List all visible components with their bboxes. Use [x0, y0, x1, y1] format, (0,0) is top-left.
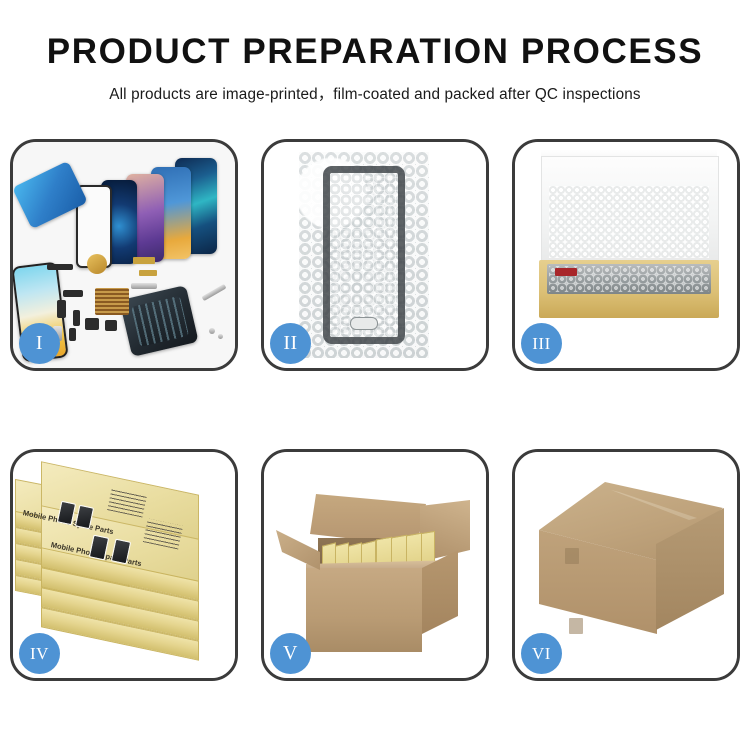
carton-tab-lower	[569, 618, 583, 634]
connector-part-2	[57, 300, 66, 318]
process-step-panel-4: Mobile Phone Spare Parts Mobile Phone Sp…	[10, 449, 238, 681]
red-label	[555, 268, 577, 276]
page-title: PRODUCT PREPARATION PROCESS	[0, 34, 750, 71]
bracket-part	[131, 283, 157, 289]
page-header: PRODUCT PREPARATION PROCESS All products…	[0, 0, 750, 104]
process-step-panel-3: III	[512, 139, 740, 371]
step-badge-6: VI	[521, 633, 562, 674]
step-badge-5: V	[270, 633, 311, 674]
step-badge-1: I	[19, 323, 60, 364]
bubble-wrap-sheet	[299, 152, 429, 358]
screw-part-2	[218, 334, 223, 339]
wrapped-screen	[323, 166, 405, 344]
flex-cable-part-1	[133, 257, 155, 264]
process-step-panel-5: V	[261, 449, 489, 681]
step-badge-2: II	[270, 323, 311, 364]
carton-tab-upper	[565, 548, 579, 564]
step-badge-3: III	[521, 323, 562, 364]
process-step-panel-2: II	[261, 139, 489, 371]
speaker-mesh-part	[95, 288, 129, 315]
vibrator-part	[85, 318, 99, 330]
connector-part-3	[73, 310, 80, 326]
process-step-panel-6: VI	[512, 449, 740, 681]
connector-part-1	[63, 290, 83, 297]
step-badge-4: IV	[19, 633, 60, 674]
button-part	[105, 320, 117, 331]
flex-cable-part-2	[139, 270, 157, 276]
small-part-1	[69, 328, 76, 341]
process-step-panel-1: I	[10, 139, 238, 371]
screw-part-1	[209, 328, 215, 334]
carton-front-panel	[306, 568, 422, 652]
home-button	[350, 317, 378, 330]
process-panel-grid: I II III	[10, 139, 740, 681]
earpiece-part	[47, 264, 73, 270]
page-subtitle: All products are image-printed，film-coat…	[0, 82, 750, 104]
foam-lining	[549, 186, 709, 258]
camera-module-part	[87, 254, 107, 274]
